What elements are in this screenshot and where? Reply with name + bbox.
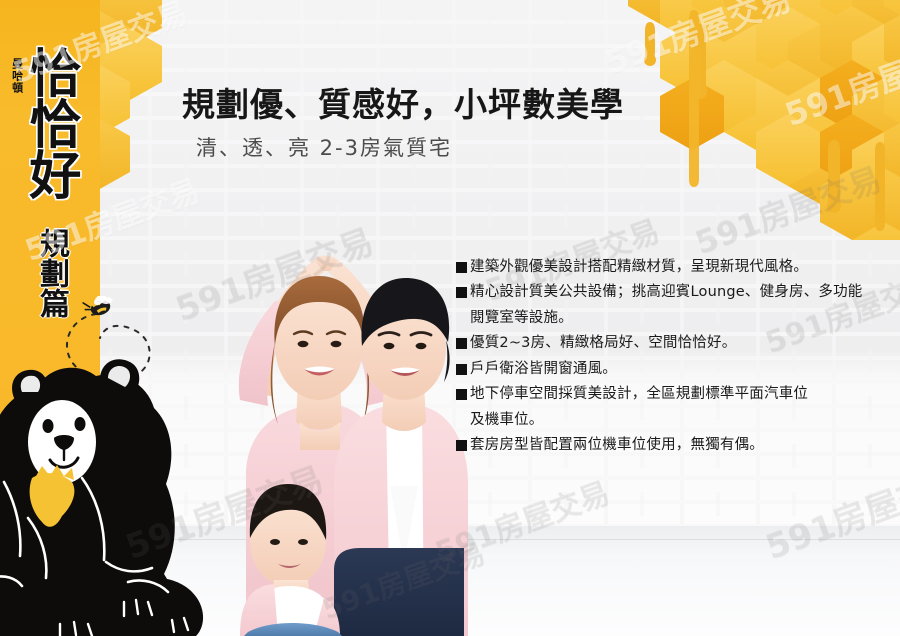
list-item: 精心設計質美公共設備；挑高迎賓Lounge、健身房、多功能 [456, 281, 876, 304]
project-title: 恰恰好 [24, 46, 74, 199]
bear-body [0, 368, 203, 636]
page-title: 規劃優、質感好，小坪數美學 [182, 78, 624, 126]
feature-text: 戶戶衛浴皆開窗通風。 [470, 358, 876, 381]
bullet-square-icon [456, 389, 467, 400]
bullet-square-icon [456, 287, 467, 298]
list-item: 優質2~3房、精緻格局好、空間恰恰好。 [456, 332, 876, 355]
feature-text: 套房房型皆配置兩位機車位使用，無獨有偶。 [470, 434, 876, 457]
feature-text: 地下停車空間採質美設計，全區規劃標準平面汽車位 [470, 383, 876, 406]
feature-text: 優質2~3房、精緻格局好、空間恰恰好。 [470, 332, 876, 355]
feature-text-continuation: 閱覽室等設施。 [470, 307, 876, 330]
page-subtitle: 清、透、亮 2-3房氣質宅 [196, 132, 452, 162]
feature-text: 精心設計質美公共設備；挑高迎賓Lounge、健身房、多功能 [470, 281, 876, 304]
bullet-square-icon [456, 364, 467, 375]
bullet-square-icon [456, 338, 467, 349]
list-item: 戶戶衛浴皆開窗通風。 [456, 358, 876, 381]
bear-face [28, 400, 96, 484]
feature-text: 建築外觀優美設計搭配精緻材質，呈現新現代風格。 [470, 256, 876, 279]
bullet-square-icon [456, 440, 467, 451]
list-item-continuation: 及機車位。 [456, 409, 876, 432]
poster-root: 曼哈頓 恰恰好 規劃篇 [0, 0, 900, 636]
feature-list: 建築外觀優美設計搭配精緻材質，呈現新現代風格。 精心設計質美公共設備；挑高迎賓L… [456, 256, 876, 460]
list-item-continuation: 閱覽室等設施。 [456, 307, 876, 330]
black-bear-illustration [0, 330, 216, 636]
list-item: 套房房型皆配置兩位機車位使用，無獨有偶。 [456, 434, 876, 457]
list-item: 建築外觀優美設計搭配精緻材質，呈現新現代風格。 [456, 256, 876, 279]
bullet-square-icon [456, 262, 467, 273]
bee-icon [82, 296, 117, 319]
list-item: 地下停車空間採質美設計，全區規劃標準平面汽車位 [456, 383, 876, 406]
feature-text-continuation: 及機車位。 [470, 409, 876, 432]
